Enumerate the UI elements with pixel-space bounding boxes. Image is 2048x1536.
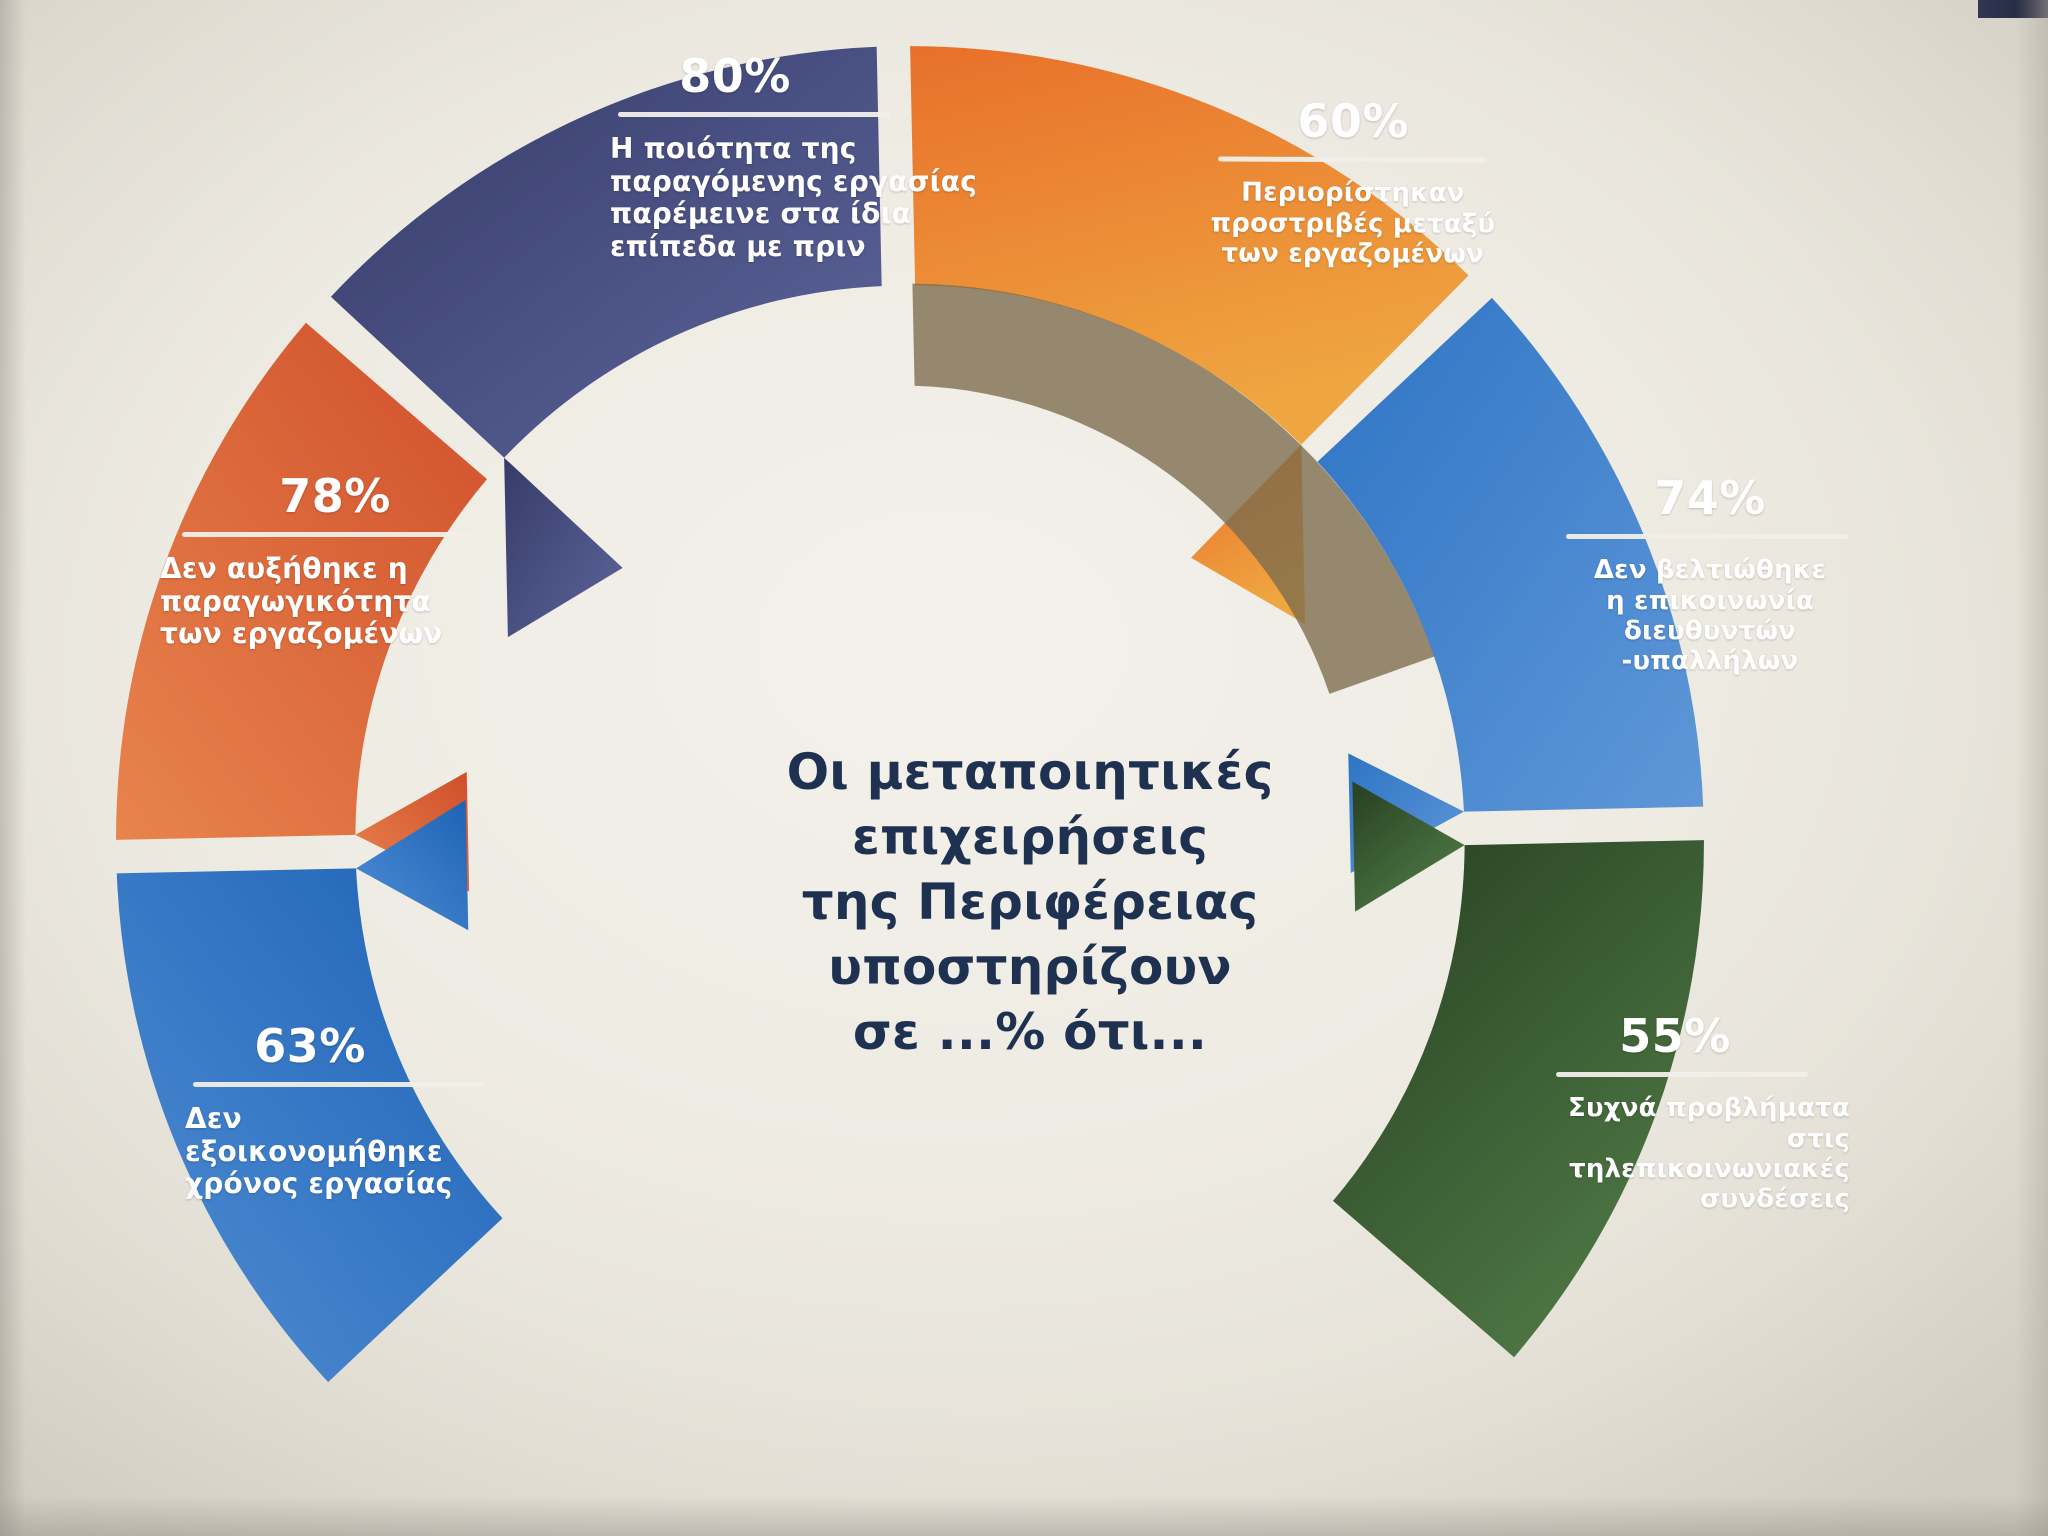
segment-80-rule (618, 112, 890, 117)
segment-74-line-3: διευθυντών (1560, 616, 1860, 646)
segment-63-line-3: χρόνος εργασίας (185, 1168, 525, 1200)
segment-74-description: Δεν βελτιώθηκε η επικοινωνία διευθυντών … (1560, 555, 1860, 676)
segment-80-label: 80% Η ποιότητα της παραγόμενης εργασίας … (610, 50, 1010, 263)
center-title: Οι μεταποιητικές επιχειρήσεις της Περιφέ… (730, 740, 1330, 1065)
segment-55-percent: 55% (1550, 1010, 1800, 1063)
center-title-line-1: Οι μεταποιητικές (730, 740, 1330, 805)
segment-60-label: 60% Περιορίστηκαν προστριβές μεταξύ των … (1188, 94, 1519, 269)
segment-63-label: 63% Δεν εξοικονομήθηκε χρόνος εργασίας (185, 1020, 525, 1201)
segment-60-line-1: Περιορίστηκαν (1188, 178, 1518, 209)
segment-55-rule (1556, 1072, 1808, 1077)
segment-78-rule (182, 532, 470, 537)
segment-74-line-2: η επικοινωνία (1560, 586, 1860, 616)
segment-80-line-4: επίπεδα με πριν (610, 231, 1010, 263)
segment-63-percent: 63% (185, 1020, 435, 1073)
segment-55-label: 55% Συχνά προβλήματα στις τηλεπικοινωνια… (1520, 1010, 1850, 1214)
segment-80-description: Η ποιότητα της παραγόμενης εργασίας παρέ… (610, 133, 1010, 263)
segment-74-label: 74% Δεν βελτιώθηκε η επικοινωνία διευθυν… (1560, 472, 1860, 676)
segment-63-line-2: εξοικονομήθηκε (185, 1136, 525, 1168)
segment-80-line-1: Η ποιότητα της (610, 133, 1010, 165)
segment-78-percent: 78% (210, 470, 460, 523)
segment-60-percent: 60% (1188, 94, 1518, 149)
segment-80-percent: 80% (610, 50, 860, 103)
segment-55-description: Συχνά προβλήματα στις τηλεπικοινωνιακές … (1520, 1093, 1850, 1214)
center-title-line-3: της Περιφέρειας (730, 870, 1330, 935)
photo-edge-right (2016, 0, 2048, 1536)
segment-74-line-1: Δεν βελτιώθηκε (1560, 555, 1860, 585)
segment-78-label: 78% Δεν αυξήθηκε η παραγωγικότητα των ερ… (160, 470, 520, 651)
segment-63-line-1: Δεν (185, 1103, 525, 1135)
segment-78-line-1: Δεν αυξήθηκε η (160, 553, 520, 585)
segment-55-line-1: Συχνά προβλήματα (1520, 1093, 1850, 1123)
center-title-line-5: σε ...% ότι... (730, 1000, 1330, 1065)
segment-78-line-3: των εργαζομένων (160, 618, 520, 650)
segment-63-rule (193, 1082, 485, 1087)
segment-78-line-2: παραγωγικότητα (160, 586, 520, 618)
segment-60-line-2: προστριβές μεταξύ (1188, 208, 1518, 239)
segment-55-line-3: τηλεπικοινωνιακές (1520, 1154, 1850, 1184)
center-title-line-4: υποστηρίζουν (730, 935, 1330, 1000)
segment-74-rule (1566, 534, 1848, 539)
segment-55-line-2: στις (1520, 1124, 1850, 1154)
segment-60-rule (1218, 157, 1486, 163)
segment-63-description: Δεν εξοικονομήθηκε χρόνος εργασίας (185, 1103, 525, 1200)
segment-78-description: Δεν αυξήθηκε η παραγωγικότητα των εργαζο… (160, 553, 520, 650)
center-title-line-2: επιχειρήσεις (730, 805, 1330, 870)
segment-80-line-3: παρέμεινε στα ίδια (610, 198, 1010, 230)
segment-60-line-3: των εργαζομένων (1188, 238, 1518, 269)
segment-80-line-2: παραγόμενης εργασίας (610, 166, 1010, 198)
segment-60-description: Περιορίστηκαν προστριβές μεταξύ των εργα… (1188, 178, 1518, 270)
segment-55-line-4: συνδέσεις (1520, 1184, 1850, 1214)
segment-74-percent: 74% (1560, 472, 1860, 525)
segment-74-line-4: -υπαλλήλων (1560, 646, 1860, 676)
